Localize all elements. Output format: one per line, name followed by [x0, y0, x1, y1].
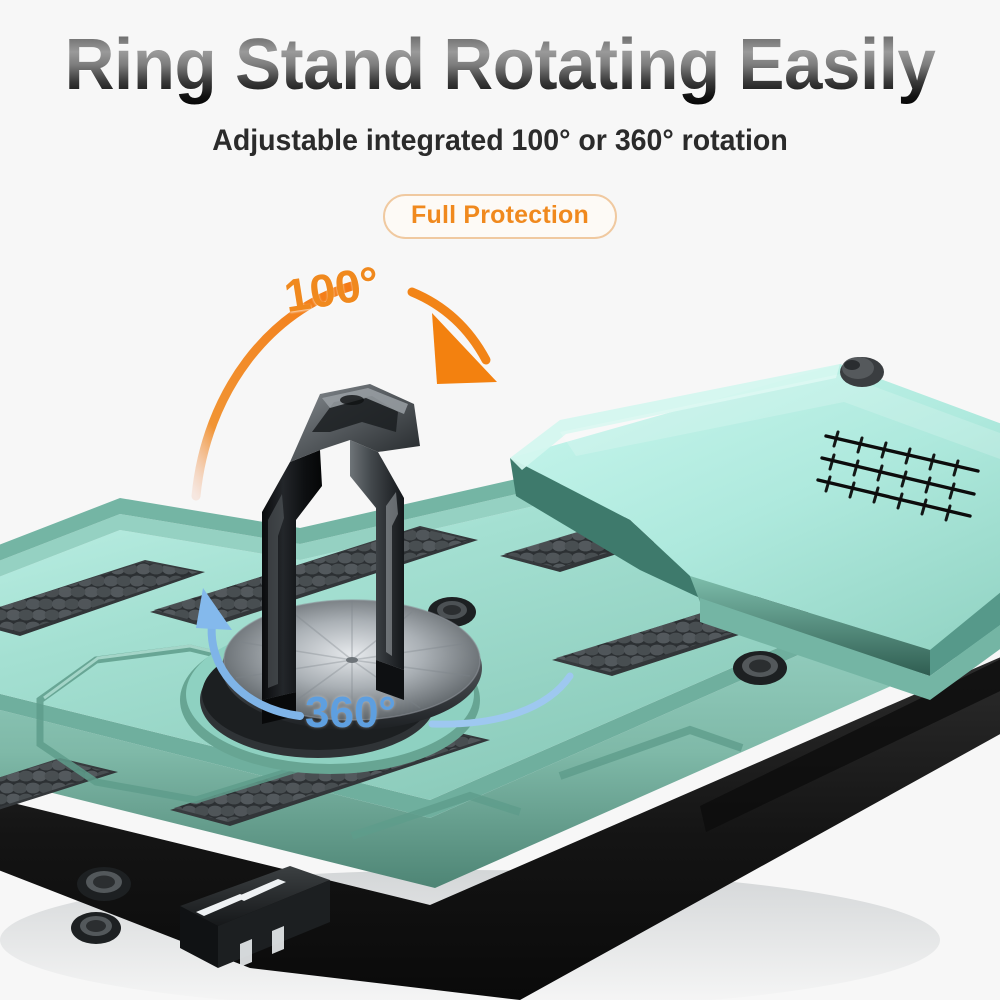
screw-port — [77, 867, 131, 901]
screw-port — [71, 912, 121, 944]
phone-case-illustration — [0, 0, 1000, 1000]
screw-port — [733, 651, 787, 685]
rotation-spin-label: 360° — [305, 688, 396, 738]
slider-tab[interactable] — [840, 357, 884, 387]
product-marketing-image: Ring Stand Rotating Easily Adjustable in… — [0, 0, 1000, 1000]
